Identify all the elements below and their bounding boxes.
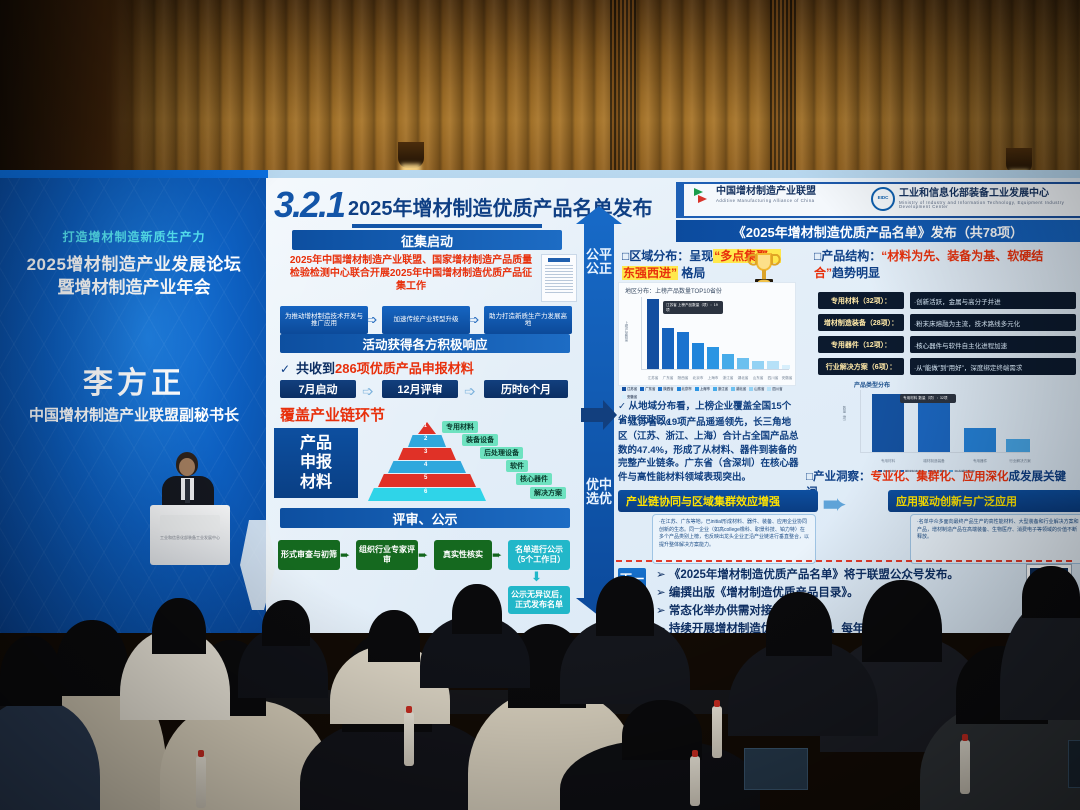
type-tick-1: 增材制造装备 <box>914 460 954 464</box>
bullet-icon: ➢ <box>656 569 666 581</box>
region-bar-5 <box>722 354 734 369</box>
mini-box-0: 为推动增材制造技术开发与推广应用 <box>280 306 368 334</box>
water-bottle <box>196 756 206 808</box>
region-bar-8 <box>767 361 779 369</box>
structure-desc-2: ·核心器件与软件自主化进程加速 <box>910 336 1076 353</box>
release-banner: 《2025年增材制造优质产品名单》发布（共78项） <box>676 220 1080 242</box>
mini-box-1: 加速传统产业转型升级 <box>382 306 470 334</box>
pyramid-label-3: 3 <box>424 449 427 455</box>
region-tick-4: 上海市 <box>705 377 721 381</box>
amac-mark-icon <box>694 188 712 203</box>
audience-head <box>152 598 206 654</box>
flow-step-2: 真实性核实 <box>434 540 492 570</box>
region-bar-6 <box>737 358 749 369</box>
type-bar-0 <box>872 394 904 452</box>
band-text-bottom: 优中选优 <box>584 478 614 507</box>
structure-desc-0: ·创新活跃，金属与高分子并进 <box>910 292 1076 309</box>
arrow-right-icon: ➨ <box>418 549 428 561</box>
structure-heading: □产品结构：“材料为先、装备为基、软硬结合”趋势明显 <box>814 248 1072 283</box>
band-arrow-right-icon <box>579 398 619 432</box>
region-tick-6: 湖北省 <box>735 377 751 381</box>
region-bar-0 <box>647 299 659 369</box>
legend-item: 江苏省 <box>622 386 637 391</box>
band-text-top: 公平公正 <box>584 248 614 277</box>
legend-item: 浙江省 <box>713 386 728 391</box>
document-thumbnail <box>541 254 577 302</box>
coverage-title: 覆盖产业链环节 <box>280 404 385 425</box>
response-line: 共收到286项优质产品申报材料 <box>296 358 474 377</box>
audience-head <box>368 610 420 662</box>
header-response: 活动获得各方积极响应 <box>280 334 570 353</box>
presentation-slide: 3.2.1 2025年增材制造优质产品名单发布 中国增材制造产业联盟 Addit… <box>266 178 1080 633</box>
legend-item: 湖北省 <box>731 386 746 391</box>
legend-item: 上海市 <box>695 386 710 391</box>
flow-step-1: 组织行业专家评审 <box>356 540 418 570</box>
structure-heading-suffix: 趋势明显 <box>832 266 880 280</box>
type-tick-2: 专用器件 <box>960 460 1000 464</box>
check-icon: ✓ <box>280 362 290 376</box>
speaker-role: 中国增材制造产业联盟副秘书长 <box>0 404 268 425</box>
region-bar-1 <box>662 328 674 369</box>
legend-item: 北京市 <box>677 386 692 391</box>
section-number: 3.2.1 <box>274 184 344 226</box>
speaker-name: 李方正 <box>0 358 268 402</box>
card-body-1: ·名单中众多面向最终产品生产的高性能材料、大型装备和行业解决方案和产品，增材制造… <box>910 514 1080 564</box>
chevron-right-icon: ➩ <box>469 313 480 326</box>
legend-item: 四川省 <box>767 386 782 391</box>
type-bar-1 <box>918 402 950 452</box>
legend-item: 山东省 <box>749 386 764 391</box>
product-type-bar-chart: 产品类型分布 数量（项） 专用材料 增材制造装备 专用器件 行业解决方案 专用材… <box>834 380 1044 472</box>
audience-head <box>622 700 702 760</box>
arrow-right-icon: ➨ <box>822 490 847 520</box>
chart-y-axis <box>641 297 642 369</box>
chain-tag-3: 软件 <box>506 460 528 472</box>
next-item-1: ➢ 编撰出版《增材制造优质产品目录》。 <box>656 584 859 600</box>
water-bottle <box>404 712 414 766</box>
conference-photo: 打造增材制造新质生产力 2025增材制造产业发展论坛 暨增材制造产业年会 李方正… <box>0 0 1080 810</box>
chart2-x-axis <box>860 452 1030 453</box>
bullet-icon: ➢ <box>656 605 666 617</box>
structure-desc-1: ·粉末床熔融为主流，技术路线多元化 <box>910 314 1076 331</box>
type-bar-3 <box>1006 439 1030 452</box>
logo-amac-en: Additive Manufacturing Alliance of China <box>716 199 816 203</box>
arrow-right-icon: ➨ <box>340 549 350 561</box>
flow-step-4: 公示无异议后，正式发布名单 <box>508 586 570 614</box>
chart-title-region: 地区分布：上榜产品数量TOP10省份 <box>625 286 722 295</box>
structure-label-1: 增材制造装备（28项）： <box>818 314 904 331</box>
legend-item: 陕西省 <box>658 386 673 391</box>
card-title-0: 产业链协同与区域集群效应增强 <box>618 490 818 512</box>
response-pre: 共收到 <box>296 361 335 376</box>
logo-amac-cn: 中国增材制造产业联盟 <box>716 187 816 197</box>
region-bar-chart: 地区分布：上榜产品数量TOP10省份 上榜产品数量 江苏省 广东省 陕西省 北京… <box>618 282 796 386</box>
region-tick-0: 江苏省 <box>645 377 661 381</box>
chevron-right-icon: ➩ <box>464 384 476 398</box>
pyramid-label-1: 1 <box>424 423 427 429</box>
region-bar-9 <box>782 365 790 369</box>
timeline-step-0: 7月启动 <box>280 380 356 398</box>
chain-tag-0: 专用材料 <box>442 421 478 433</box>
chain-tag-1: 装备设备 <box>462 434 498 446</box>
eidc-mark-icon <box>871 187 895 211</box>
divider-dashed <box>616 560 1072 562</box>
audience-head <box>1022 566 1080 618</box>
banner-title-line1: 2025增材制造产业发展论坛 <box>0 250 268 275</box>
region-tick-7: 山东省 <box>750 377 766 381</box>
structure-label-0: 专用材料（32项）： <box>818 292 904 309</box>
structure-label-3: 行业解决方案（6项）： <box>818 358 904 375</box>
response-post: 优质产品申报材料 <box>370 361 474 376</box>
chain-tag-4: 核心器件 <box>516 473 552 485</box>
region-tick-2: 陕西省 <box>675 377 691 381</box>
structure-label-2: 专用器件（12项）： <box>818 336 904 353</box>
pyramid-label-6: 6 <box>424 489 427 495</box>
insight-heading-prefix: □产业洞察： <box>806 471 870 483</box>
water-bottle <box>690 756 700 806</box>
chain-tag-2: 后处理设备 <box>480 447 523 459</box>
logo-eidc: 工业和信息化部装备工业发展中心 Ministry of Industry and… <box>871 187 1079 211</box>
banner-title-line2: 暨增材制造产业年会 <box>0 273 268 298</box>
bullet-icon: ➢ <box>656 587 666 599</box>
response-count: 286项 <box>335 361 370 376</box>
title-underline <box>352 224 542 228</box>
type-bar-2 <box>964 428 996 452</box>
flow-step-0: 形式审查与初筛 <box>278 540 340 570</box>
chevron-right-icon: ➩ <box>367 313 378 326</box>
audience-head <box>596 576 654 636</box>
header-review: 评审、公示 <box>280 508 570 528</box>
podium: 工业和信息化部装备工业发展中心 <box>150 505 230 565</box>
type-tick-3: 行业解决方案 <box>1000 460 1040 464</box>
laptop-screen[interactable] <box>1068 740 1080 788</box>
red-paragraph: 2025年中国增材制造产业联盟、国家增材制造产品质量检验检测中心联合开展2025… <box>286 254 536 294</box>
region-tick-1: 广东省 <box>660 377 676 381</box>
product-declaration-box: 产品 申报 材料 <box>274 428 358 498</box>
chart2-y-label: 数量（项） <box>842 406 847 423</box>
chevron-right-icon: ➩ <box>362 384 374 398</box>
header-collection-start: 征集启动 <box>292 230 562 250</box>
audience-head <box>452 584 502 634</box>
chart2-y-axis <box>860 390 861 452</box>
region-tick-3: 北京市 <box>690 377 706 381</box>
podium-label: 工业和信息化部装备工业发展中心 <box>156 535 224 541</box>
region-bar-7 <box>752 361 764 369</box>
laptop-screen[interactable] <box>744 748 808 790</box>
chart-title-type: 产品类型分布 <box>854 380 890 389</box>
region-tick-9: 安徽省 <box>779 377 795 381</box>
region-bar-3 <box>692 343 704 369</box>
structure-desc-3: ·从“能做”到“用好”，深度绑定终端需求 <box>910 358 1076 375</box>
insight-heading-hl: 专业化、集群化、应用深化 <box>870 471 1008 483</box>
region-heading-suffix: 格局 <box>681 266 705 280</box>
arrow-right-icon: ➨ <box>492 549 502 561</box>
pyramid-label-4: 4 <box>424 462 427 468</box>
structure-heading-prefix: □产品结构： <box>814 249 881 263</box>
audience-head <box>0 636 62 706</box>
mini-box-2: 助力打造新质生产力发展高地 <box>484 306 572 334</box>
arrow-down-icon: ⬇ <box>531 570 542 583</box>
wall-sconce <box>398 142 424 168</box>
pyramid-level-1 <box>418 422 436 434</box>
timeline-step-2: 历时6个月 <box>484 380 568 398</box>
banner-slogan: 打造增材制造新质生产力 <box>0 228 268 245</box>
audience-head <box>766 592 832 656</box>
region-heading-prefix: □区域分布：呈现 <box>622 249 713 263</box>
chart-x-axis <box>641 369 789 370</box>
chart-tooltip-type: 专用材料 数量（项）：32项 <box>900 394 956 403</box>
audience-head <box>262 600 310 646</box>
region-note-1: ✓ 江苏省以19项产品遥遥领先，长三角地区（江苏、浙江、上海）合计占全国产品总数… <box>618 416 800 485</box>
logo-eidc-en: Ministry of Industry and Information Tec… <box>899 201 1079 210</box>
region-heading-hl2: 东强西进” <box>622 266 678 280</box>
card-title-1: 应用驱动创新与广泛应用 <box>888 490 1080 512</box>
pyramid-label-2: 2 <box>424 436 427 442</box>
region-chart-legend: 江苏省 广东省 陕西省 北京市 上海市 浙江省 湖北省 山东省 四川省 安徽省 <box>622 386 794 399</box>
next-item-0: ➢ 《2025年增材制造优质产品名单》将于联盟公众号发布。 <box>656 566 959 582</box>
legend-item: 广东省 <box>640 386 655 391</box>
logo-amac: 中国增材制造产业联盟 Additive Manufacturing Allian… <box>694 187 816 203</box>
chain-tag-5: 解决方案 <box>530 487 566 499</box>
type-tick-0: 专用材料 <box>868 460 908 464</box>
region-bar-2 <box>677 332 689 369</box>
timeline-step-1: 12月评审 <box>382 380 458 398</box>
chart-y-label: 上榜产品数量 <box>624 321 629 341</box>
legend-item: 安徽省 <box>622 394 637 399</box>
logo-eidc-cn: 工业和信息化部装备工业发展中心 <box>899 189 1079 199</box>
chart-tooltip-region: 江苏省 上榜产品数量（项）：19项 <box>663 301 723 314</box>
flow-step-3: 名单进行公示 （5个工作日） <box>508 540 570 570</box>
region-tick-5: 浙江省 <box>720 377 736 381</box>
card-body-0: ·在江苏、广东等地，已initial形成材料、器件、装备、应用企业协同创新的生态… <box>652 514 816 564</box>
pyramid-label-5: 5 <box>424 475 427 481</box>
water-bottle <box>960 740 970 794</box>
region-bar-4 <box>707 347 719 369</box>
water-bottle <box>712 706 722 758</box>
